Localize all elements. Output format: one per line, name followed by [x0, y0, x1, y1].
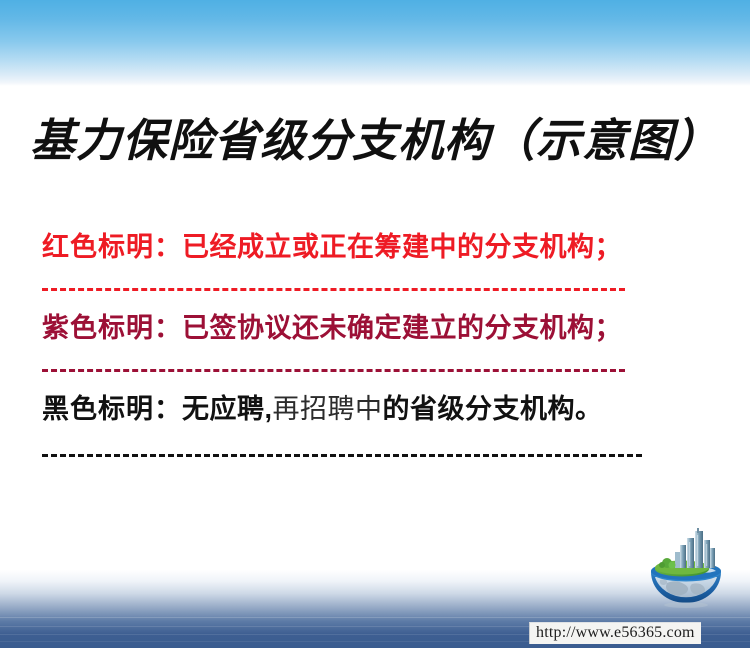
legend-text-black-part2: 的省级分支机构。 [383, 394, 603, 424]
legend-row-purple: 紫色标明：已签协议还未确定建立的分支机构； [42, 313, 708, 343]
slide-canvas: 基力保险省级分支机构（示意图） 红色标明：已经成立或正在筹建中的分支机构； 紫色… [0, 0, 750, 648]
watermark-url: http://www.e56365.com [529, 622, 701, 644]
legend-text-purple: 已签协议还未确定建立的分支机构； [182, 313, 622, 343]
legend-row-black: 黑色标明：无应聘,再招聘中的省级分支机构。 [42, 394, 708, 424]
legend-text-black-faded: 再招聘中 [273, 394, 383, 424]
water-streak [0, 617, 750, 618]
legend-row-red: 红色标明：已经成立或正在筹建中的分支机构； [42, 232, 708, 262]
sky-gradient-band [0, 0, 750, 86]
legend-separator-purple [42, 369, 625, 372]
legend-label-black: 黑色标明： [42, 394, 182, 424]
globe-city-logo-icon [637, 528, 735, 614]
legend-label-red: 红色标明： [42, 232, 182, 262]
legend-text-red: 已经成立或正在筹建中的分支机构； [182, 232, 622, 262]
page-title: 基力保险省级分支机构（示意图） [0, 104, 750, 169]
legend-label-purple: 紫色标明： [42, 313, 182, 343]
legend-separator-black [42, 454, 642, 457]
legend-block: 红色标明：已经成立或正在筹建中的分支机构； 紫色标明：已签协议还未确定建立的分支… [42, 232, 708, 457]
legend-text-black-part1: 无应聘, [182, 394, 273, 424]
legend-separator-red [42, 288, 625, 291]
